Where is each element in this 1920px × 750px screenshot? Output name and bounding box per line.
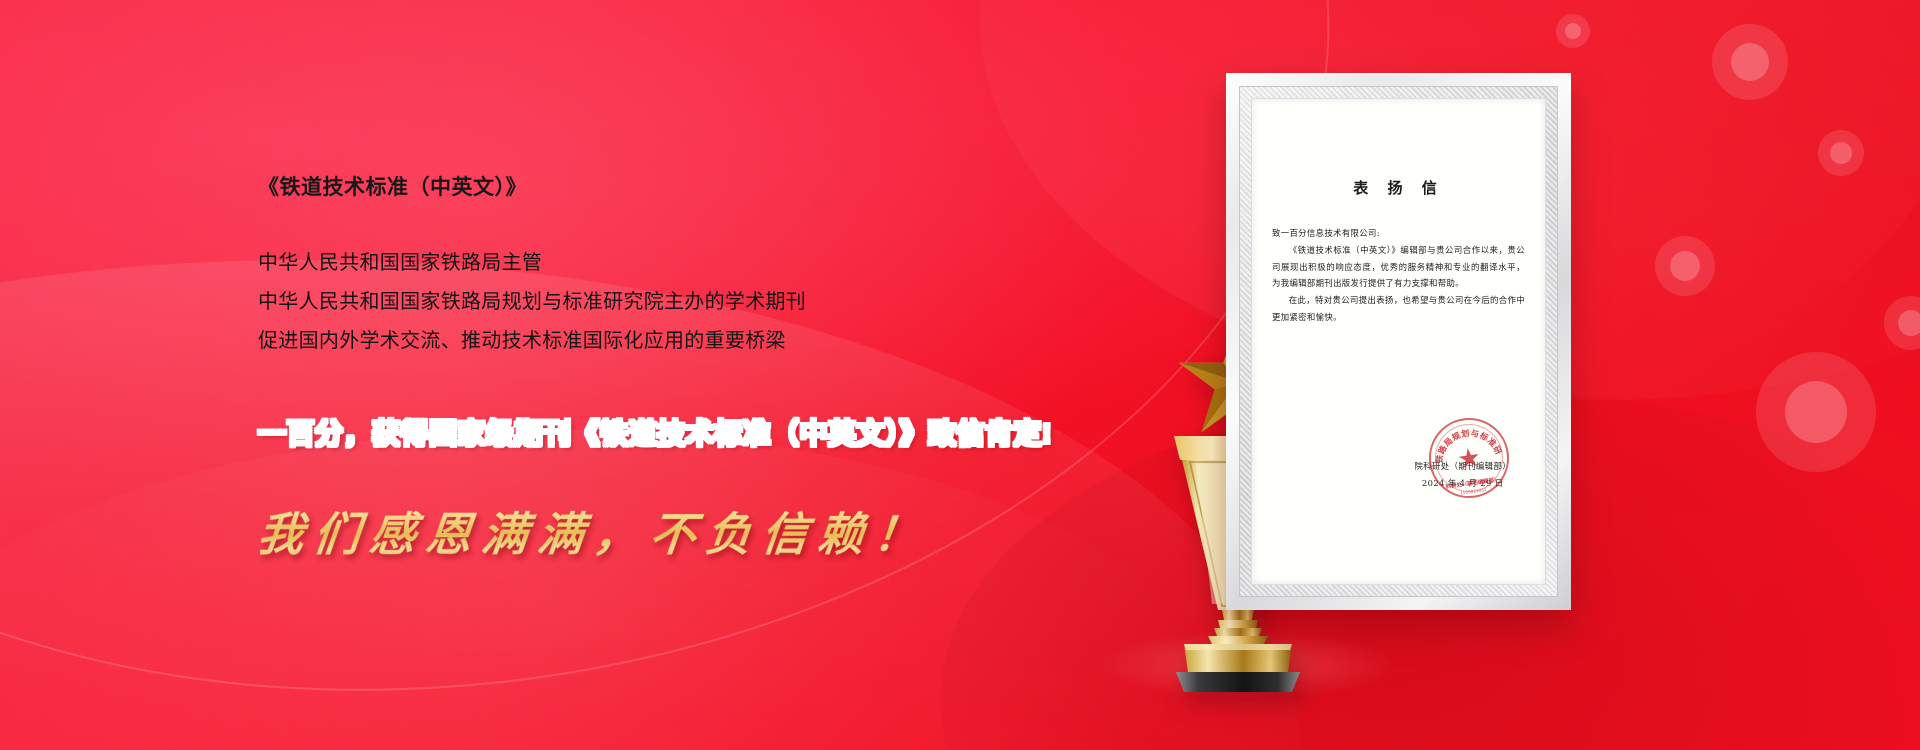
certificate-date: 2024 年 4 月 29 日 (1414, 475, 1511, 492)
decor-bubble (1655, 236, 1715, 296)
certificate-frame-inner: 表 扬 信 致一百分信息技术有限公司: 《铁道技术标准（中英文）》编辑部与贵公司… (1239, 86, 1558, 597)
sub-line-1: 中华人民共和国国家铁路局主管 (258, 244, 1158, 283)
decor-bubble (1556, 14, 1590, 48)
decor-bubble-core (1830, 142, 1852, 164)
sub-line-2: 中华人民共和国国家铁路局规划与标准研究院主办的学术期刊 (258, 283, 1158, 322)
decor-bubble-core (1785, 381, 1847, 443)
calligraphy-slogan: 我们感恩满满，不负信赖！ (255, 498, 934, 564)
journal-title: 《铁道技术标准（中英文）》 (258, 175, 1158, 200)
certificate-signature-block: 院科研处（期刊编辑部） 2024 年 4 月 29 日 (1414, 458, 1511, 492)
award-headline-text: 一百分，获得国家级期刊《铁道技术标准（中英文）》致信肯定! (258, 418, 1052, 449)
copy-block: 《铁道技术标准（中英文）》 中华人民共和国国家铁路局主管 中华人民共和国国家铁路… (258, 175, 1158, 361)
decor-bubble-core (1731, 43, 1769, 81)
award-headline: 一百分，获得国家级期刊《铁道技术标准（中英文）》致信肯定! (258, 412, 1052, 452)
certificate-title: 表 扬 信 (1252, 177, 1545, 198)
decor-bubble (1818, 130, 1864, 176)
certificate-paper: 表 扬 信 致一百分信息技术有限公司: 《铁道技术标准（中英文）》编辑部与贵公司… (1251, 98, 1546, 585)
certificate-salutation: 致一百分信息技术有限公司: (1272, 225, 1525, 242)
certificate-paragraph-2: 在此，特对贵公司提出表扬，也希望与贵公司在今后的合作中更加紧密和愉快。 (1272, 292, 1525, 326)
decor-bubble (1756, 352, 1876, 472)
background-swoosh-1 (0, 0, 1240, 730)
certificate-paragraph-1: 《铁道技术标准（中英文）》编辑部与贵公司合作以来，贵公司展现出积极的响应态度，优… (1272, 242, 1525, 292)
decor-bubble-core (1670, 251, 1700, 281)
decor-bubble (1712, 24, 1788, 100)
certificate-signature: 院科研处（期刊编辑部） (1414, 458, 1511, 475)
decor-bubble-core (1898, 310, 1920, 336)
decor-bubble (1884, 296, 1920, 350)
banner-canvas: 《铁道技术标准（中英文）》 中华人民共和国国家铁路局主管 中华人民共和国国家铁路… (0, 0, 1920, 750)
decor-bubble-core (1565, 23, 1581, 39)
background-swoosh-6 (0, 430, 1250, 750)
sub-line-3: 促进国内外学术交流、推动技术标准国际化应用的重要桥梁 (258, 322, 1158, 361)
certificate-body: 致一百分信息技术有限公司: 《铁道技术标准（中英文）》编辑部与贵公司合作以来，贵… (1272, 225, 1525, 326)
certificate-frame: 表 扬 信 致一百分信息技术有限公司: 《铁道技术标准（中英文）》编辑部与贵公司… (1226, 73, 1571, 610)
